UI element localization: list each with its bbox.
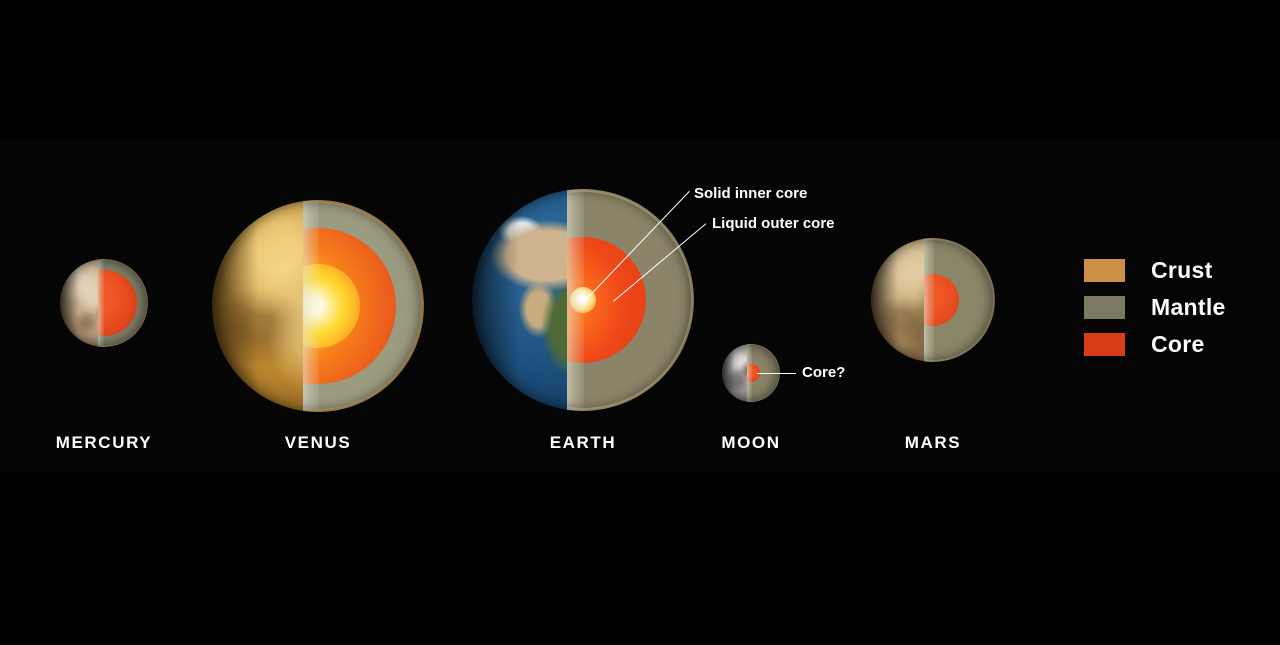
venus-surface xyxy=(212,200,303,412)
legend-swatch-mantle xyxy=(1084,296,1125,319)
legend-item-mantle: Mantle xyxy=(1084,289,1226,326)
mars-globe xyxy=(871,238,995,362)
legend-label-core: Core xyxy=(1151,331,1205,358)
mercury-globe xyxy=(60,259,148,347)
label-mars: MARS xyxy=(823,433,1043,453)
label-venus: VENUS xyxy=(208,433,428,453)
legend-swatch-core xyxy=(1084,333,1125,356)
legend-item-core: Core xyxy=(1084,326,1226,363)
legend-label-crust: Crust xyxy=(1151,257,1213,284)
body-mercury xyxy=(60,259,148,347)
earth-surface xyxy=(472,189,567,411)
legend-item-crust: Crust xyxy=(1084,252,1226,289)
venus-cutaway xyxy=(303,200,424,412)
body-venus xyxy=(212,200,424,412)
legend-swatch-crust xyxy=(1084,259,1125,282)
annotation-liquid-outer-core: Liquid outer core xyxy=(712,215,835,232)
legend: Crust Mantle Core xyxy=(1084,252,1226,363)
venus-globe xyxy=(212,200,424,412)
figure-canvas: MERCURYVENUSEARTHMOONMARS Solid inner co… xyxy=(0,0,1280,645)
mars-surface xyxy=(871,238,924,362)
mercury-surface xyxy=(60,259,98,347)
body-mars xyxy=(871,238,995,362)
mars-cutaway xyxy=(924,238,995,362)
earth-cutaway xyxy=(567,189,694,411)
label-mercury: MERCURY xyxy=(0,433,214,453)
mercury-cutaway xyxy=(98,259,148,347)
legend-label-mantle: Mantle xyxy=(1151,294,1226,321)
annotation-solid-inner-core: Solid inner core xyxy=(694,185,807,202)
annotation-moon-core: Core? xyxy=(802,364,845,381)
moon-surface xyxy=(722,344,747,402)
leader-moon-core xyxy=(757,373,796,374)
